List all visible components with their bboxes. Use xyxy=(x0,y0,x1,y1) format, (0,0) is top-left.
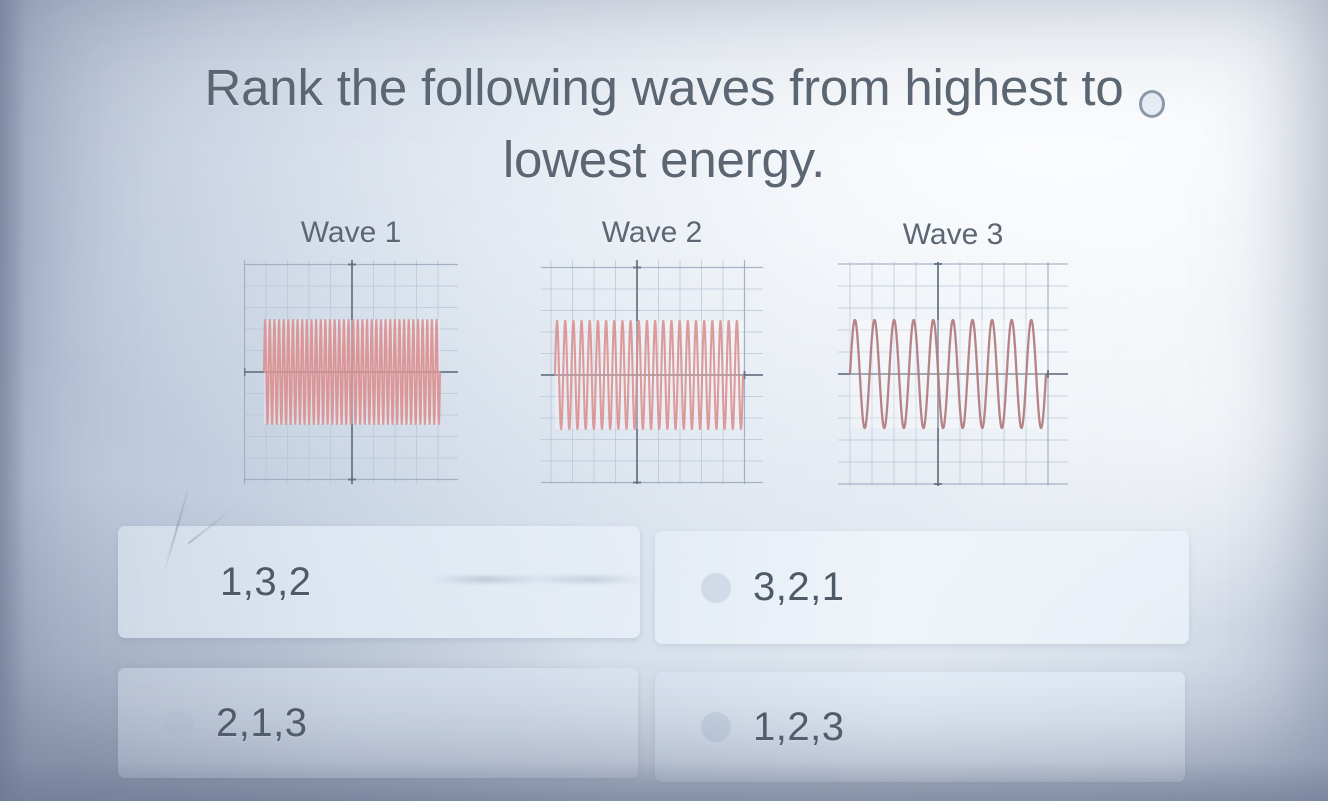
wave-3-label: Wave 3 xyxy=(838,218,1068,252)
wave-2-label: Wave 2 xyxy=(541,216,763,250)
photo-edge-shadow-left xyxy=(0,0,26,801)
radio-button-icon[interactable] xyxy=(164,567,194,597)
answer-option-3-label: 2,1,3 xyxy=(216,701,307,746)
answer-option-2-label: 3,2,1 xyxy=(753,565,844,610)
wave-3-graph xyxy=(838,262,1068,486)
answer-option-4-label: 1,2,3 xyxy=(753,705,844,750)
answer-option-2[interactable]: 3,2,1 xyxy=(655,531,1189,644)
answer-option-1-label: 1,3,2 xyxy=(220,560,311,605)
paper-smudge-artifact xyxy=(430,576,645,583)
radio-button-icon[interactable] xyxy=(701,712,731,742)
hole-punch-artifact xyxy=(1139,90,1165,118)
wave-1-label: Wave 1 xyxy=(244,216,458,250)
wave-1-graph xyxy=(244,260,458,484)
worksheet-photo: Rank the following waves from highest to… xyxy=(0,0,1328,801)
answer-option-3[interactable]: 2,1,3 xyxy=(118,668,638,778)
page-title: Rank the following waves from highest to… xyxy=(140,52,1188,197)
wave-2-graph xyxy=(541,260,763,484)
radio-button-icon[interactable] xyxy=(164,708,194,738)
answer-option-4[interactable]: 1,2,3 xyxy=(655,672,1185,782)
radio-button-icon[interactable] xyxy=(701,573,731,603)
